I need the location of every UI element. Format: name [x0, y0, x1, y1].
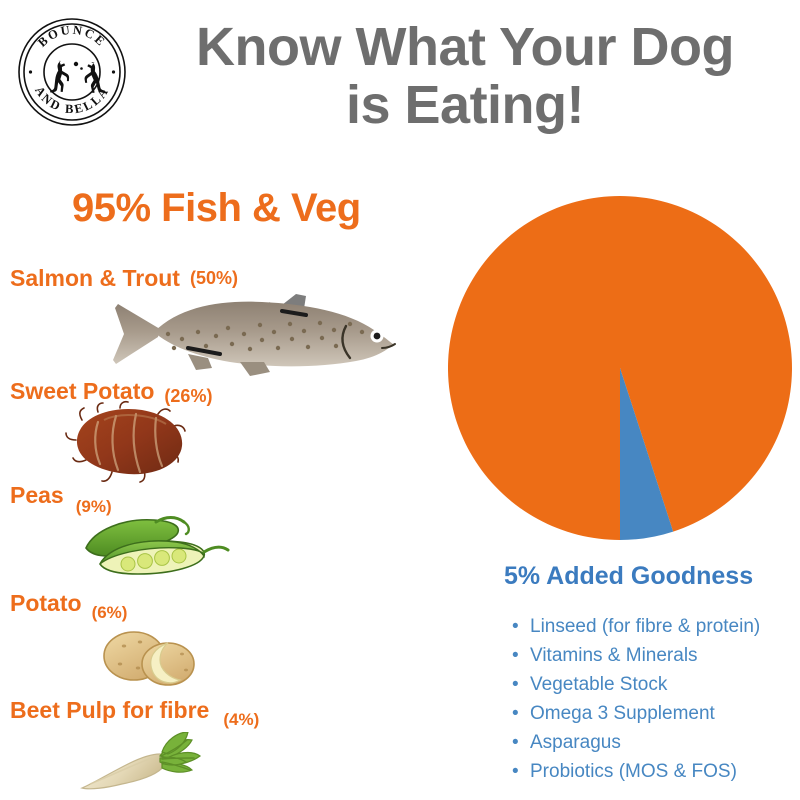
pie-slice-fish-and-veg: [448, 196, 792, 540]
ingredient-label: Potato: [10, 590, 82, 617]
list-item: •Linseed (for fibre & protein): [512, 612, 760, 641]
list-item-label: Omega 3 Supplement: [530, 703, 715, 724]
added-goodness-list: •Linseed (for fibre & protein) •Vitamins…: [512, 612, 760, 786]
added-goodness-heading: 5% Added Goodness: [504, 562, 753, 591]
ingredient-pie-chart: [448, 196, 792, 540]
ingredient-percent: (4%): [223, 710, 259, 730]
list-item: •Vitamins & Minerals: [512, 641, 760, 670]
ingredient-beet-pulp: Beet Pulp for fibre(4%): [10, 697, 259, 724]
ingredient-label: Beet Pulp for fibre: [10, 697, 209, 724]
list-item-label: Vegetable Stock: [530, 674, 667, 695]
list-item-label: Linseed (for fibre & protein): [530, 616, 760, 637]
logo-top-text: BOUNCE: [35, 23, 109, 50]
page-title-line-1: Know What Your Dog: [150, 18, 780, 76]
list-item: •Omega 3 Supplement: [512, 699, 760, 728]
infographic-page: BOUNCE AND BELLA Know What Your Dog is E…: [0, 0, 800, 800]
sweet-potato-illustration: [58, 400, 198, 485]
page-title-line-2: is Eating!: [150, 76, 780, 134]
svg-text:BOUNCE: BOUNCE: [35, 23, 109, 50]
peas-illustration: [80, 512, 230, 582]
ingredient-percent: (6%): [92, 603, 128, 623]
bullet-icon: •: [512, 757, 519, 786]
list-item: •Asparagus: [512, 728, 760, 757]
bounce-and-bella-logo: BOUNCE AND BELLA: [17, 17, 127, 127]
potato-illustration: [98, 626, 198, 688]
logo-dogs-icon: [50, 61, 105, 93]
bullet-icon: •: [512, 641, 519, 670]
bullet-icon: •: [512, 728, 519, 757]
ingredient-label: Peas: [10, 482, 64, 509]
ingredient-potato: Potato(6%): [10, 590, 127, 617]
list-item: •Vegetable Stock: [512, 670, 760, 699]
beet-illustration: [78, 732, 208, 794]
list-item-label: Asparagus: [530, 732, 621, 753]
fish-illustration: [110, 282, 400, 382]
list-item-label: Probiotics (MOS & FOS): [530, 761, 737, 782]
bullet-icon: •: [512, 699, 519, 728]
fish-and-veg-heading: 95% Fish & Veg: [72, 186, 361, 231]
list-item-label: Vitamins & Minerals: [530, 645, 698, 666]
list-item: •Probiotics (MOS & FOS): [512, 757, 760, 786]
bullet-icon: •: [512, 670, 519, 699]
bullet-icon: •: [512, 612, 519, 641]
page-title: Know What Your Dog is Eating!: [150, 18, 780, 134]
ingredient-peas: Peas(9%): [10, 482, 112, 509]
